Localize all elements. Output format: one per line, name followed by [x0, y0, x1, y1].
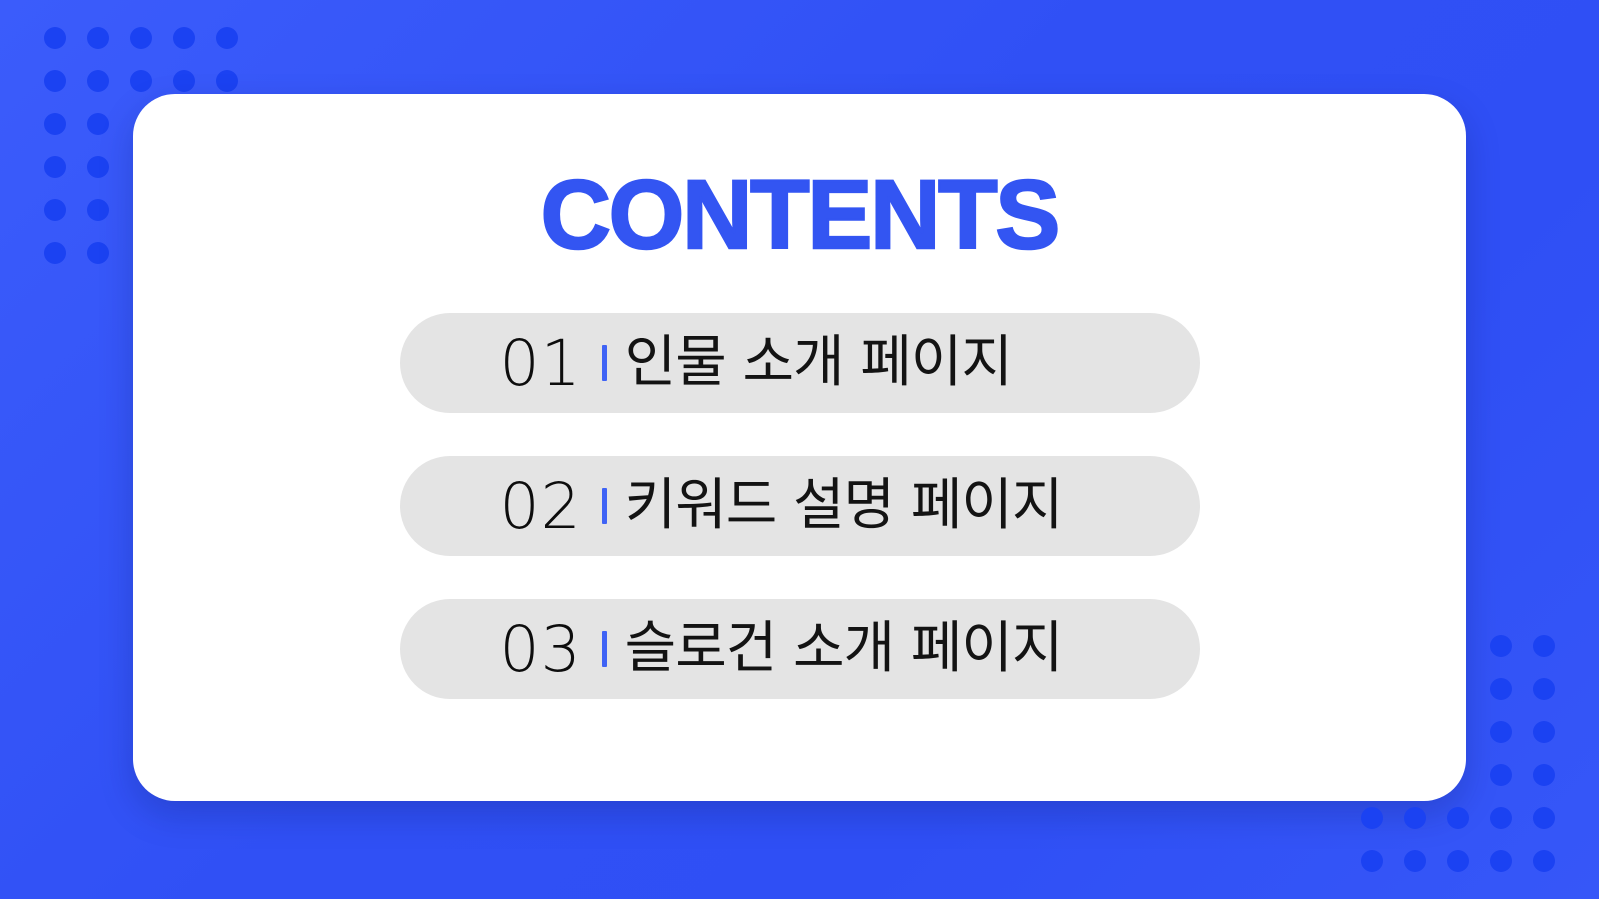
decorative-dot: [173, 70, 195, 92]
decorative-dot: [1404, 850, 1426, 872]
separator-bar-icon: [602, 488, 607, 524]
decorative-dot: [87, 156, 109, 178]
decorative-dot: [87, 27, 109, 49]
decorative-dot: [1533, 850, 1555, 872]
item-number: 03: [500, 618, 582, 681]
decorative-dot: [130, 70, 152, 92]
decorative-dot: [44, 27, 66, 49]
item-number: 01: [500, 332, 582, 395]
decorative-dot: [1361, 807, 1383, 829]
decorative-dot: [44, 70, 66, 92]
page-title: CONTENTS: [541, 166, 1059, 263]
decorative-dot: [87, 70, 109, 92]
content-card: CONTENTS 01 인물 소개 페이지 02 키워드 설명 페이지 03 슬…: [133, 94, 1466, 801]
list-item[interactable]: 03 슬로건 소개 페이지: [400, 599, 1200, 699]
decorative-dot: [44, 199, 66, 221]
list-item[interactable]: 01 인물 소개 페이지: [400, 313, 1200, 413]
decorative-dot: [87, 113, 109, 135]
decorative-dot: [1533, 635, 1555, 657]
decorative-dot: [173, 27, 195, 49]
decorative-dot: [1447, 850, 1469, 872]
item-label: 키워드 설명 페이지: [625, 474, 1063, 538]
decorative-dot: [1533, 807, 1555, 829]
decorative-dot: [1490, 678, 1512, 700]
contents-list: 01 인물 소개 페이지 02 키워드 설명 페이지 03 슬로건 소개 페이지: [400, 313, 1200, 699]
contents-slide: CONTENTS 01 인물 소개 페이지 02 키워드 설명 페이지 03 슬…: [0, 0, 1599, 899]
decorative-dot: [1490, 635, 1512, 657]
decorative-dot: [1490, 807, 1512, 829]
decorative-dot: [1490, 850, 1512, 872]
decorative-dot: [216, 27, 238, 49]
item-number: 02: [500, 475, 582, 538]
separator-bar-icon: [602, 631, 607, 667]
decorative-dot: [1533, 678, 1555, 700]
decorative-dot: [216, 70, 238, 92]
decorative-dot: [1533, 721, 1555, 743]
decorative-dot: [87, 242, 109, 264]
decorative-dot: [1490, 721, 1512, 743]
decorative-dot: [87, 199, 109, 221]
item-label: 인물 소개 페이지: [625, 331, 1012, 395]
decorative-dot: [44, 156, 66, 178]
decorative-dot: [44, 113, 66, 135]
decorative-dot: [1447, 807, 1469, 829]
decorative-dot: [44, 242, 66, 264]
decorative-dot: [1361, 850, 1383, 872]
decorative-dot: [1533, 764, 1555, 786]
decorative-dot: [130, 27, 152, 49]
decorative-dot: [1404, 807, 1426, 829]
separator-bar-icon: [602, 345, 607, 381]
list-item[interactable]: 02 키워드 설명 페이지: [400, 456, 1200, 556]
item-label: 슬로건 소개 페이지: [625, 617, 1063, 681]
decorative-dot: [1490, 764, 1512, 786]
